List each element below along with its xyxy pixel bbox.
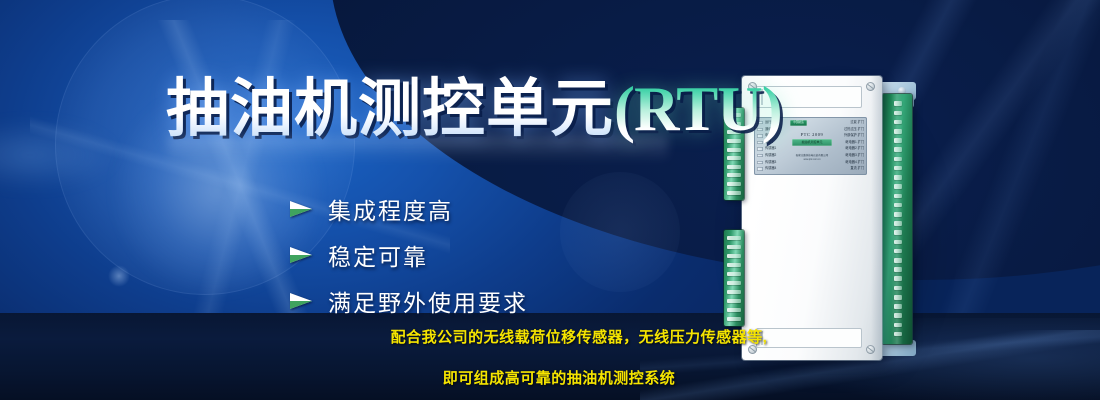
device-housing-edge [871, 76, 882, 360]
led-indicator [757, 154, 763, 157]
device-model-number: PTC 2009 [790, 132, 834, 137]
device-model-block: PTC 2009 抽油机测控单元 石家庄鹿泉热电仪表有限公司 www.pitc.… [790, 122, 834, 161]
arrow-right-icon [288, 292, 314, 310]
list-item: 集成程度高 [288, 190, 528, 228]
list-item: 稳定可靠 [288, 236, 528, 274]
page-title: 抽油机测控单元(RTU) [166, 78, 782, 141]
lens-flare-small-dot [108, 265, 130, 287]
port-label-column: 过载 扩门 过热过压 扩门 外部保护 扩门 继电器1 扩门 继电器2 扩门 继电… [844, 120, 864, 172]
arrow-right-icon [288, 246, 314, 264]
background-glow-orb [560, 172, 680, 292]
terminal-block-left-lower [724, 230, 744, 326]
port-label: 直流 扩门 [850, 166, 864, 172]
terminal-pins [882, 94, 912, 344]
terminal-block-right [882, 94, 912, 344]
led-indicator [757, 147, 763, 150]
list-item: 传感器1 [757, 146, 776, 152]
list-item: 传感器2 [757, 153, 776, 159]
feature-list: 集成程度高 稳定可靠 满足野外使用要求 [288, 190, 528, 328]
device-website: www.pitc.com.cn [790, 159, 834, 161]
led-label: 传感器2 [765, 153, 776, 159]
port-label: 继电器3 扩门 [845, 153, 864, 159]
port-label: 继电器2 扩门 [845, 146, 864, 152]
device-company-name: 石家庄鹿泉热电仪表有限公司 [790, 153, 834, 157]
port-label: 过热过压 扩门 [844, 127, 864, 133]
list-item: 满足野外使用要求 [288, 282, 528, 320]
footer-text: 配合我公司的无线载荷位移传感器，无线压力传感器等, 即可组成高可靠的抽油机测控系… [0, 330, 1100, 386]
list-item: 传感器4 [757, 166, 776, 172]
lcd-text: 抽油机测控单元 [792, 139, 832, 146]
title-rtu: (RTU) [614, 74, 782, 144]
title-chinese: 抽油机测控单元 [166, 74, 614, 144]
led-label: 传感器4 [765, 166, 776, 172]
led-indicator [757, 161, 763, 164]
arrow-right-icon [288, 200, 314, 218]
led-label: 传感器3 [765, 160, 776, 166]
feature-label: 满足野外使用要求 [328, 284, 528, 318]
feature-label: 稳定可靠 [328, 238, 428, 272]
footer-line-2: 即可组成高可靠的抽油机测控系统 [0, 371, 1100, 386]
port-label: 继电器1 扩门 [845, 140, 864, 146]
background-left-sheen [0, 120, 120, 190]
feature-label: 集成程度高 [328, 192, 453, 226]
port-label: 过载 扩门 [850, 120, 864, 126]
device-lcd-display: 抽油机测控单元 [792, 139, 832, 146]
footer-line-1: 配合我公司的无线载荷位移传感器，无线压力传感器等, [0, 330, 1100, 345]
product-banner: 抽油机测控单元(RTU) 集成程度高 稳定可靠 满足野外使用要求 [0, 0, 1100, 400]
screw-icon [866, 82, 875, 91]
banner-title: 抽油机测控单元(RTU) [166, 78, 782, 141]
port-label: 继电器4 扩门 [845, 160, 864, 166]
port-label: 外部保护 扩门 [844, 133, 864, 139]
list-item: 传感器3 [757, 160, 776, 166]
led-indicator [757, 167, 763, 170]
terminal-pins [724, 230, 744, 326]
led-label: 传感器1 [765, 146, 776, 152]
